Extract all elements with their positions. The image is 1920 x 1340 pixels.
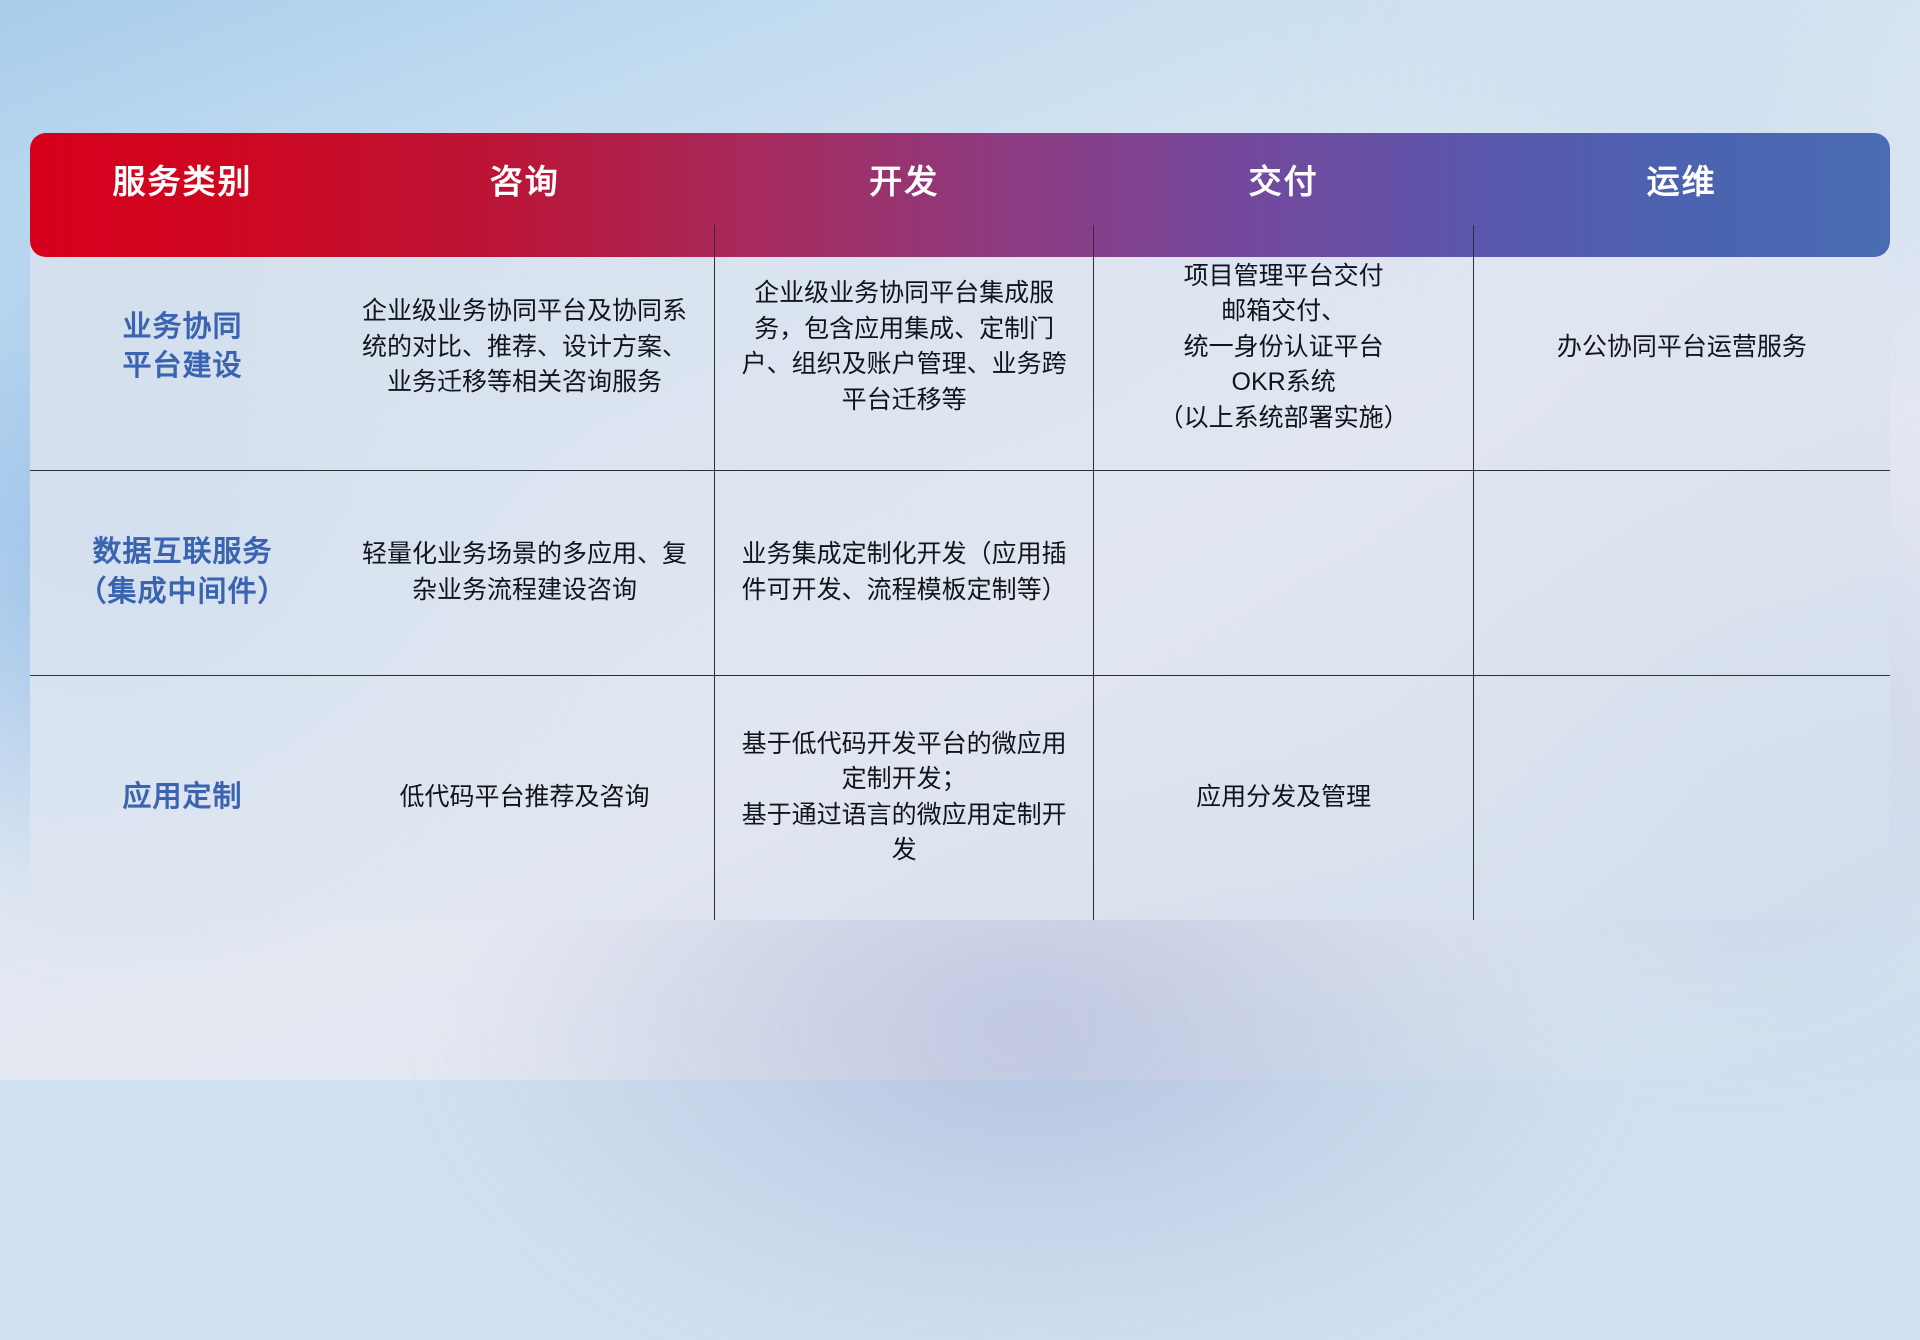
row-category-label: 业务协同平台建设 xyxy=(30,225,335,470)
table-header: 服务类别 咨询 开发 交付 运维 xyxy=(30,133,1890,225)
header-operations: 运维 xyxy=(1473,133,1890,225)
cell-operations: 办公协同平台运营服务 xyxy=(1473,225,1890,470)
header-development: 开发 xyxy=(714,133,1093,225)
cell-consulting: 低代码平台推荐及咨询 xyxy=(335,675,714,920)
table-row: 数据互联服务（集成中间件） 轻量化业务场景的多应用、复杂业务流程建设咨询 业务集… xyxy=(30,470,1890,675)
header-service-category: 服务类别 xyxy=(30,133,335,225)
cell-development: 业务集成定制化开发（应用插件可开发、流程模板定制等） xyxy=(714,470,1093,675)
table-row: 业务协同平台建设 企业级业务协同平台及协同系统的对比、推荐、设计方案、业务迁移等… xyxy=(30,225,1890,470)
table-body: 业务协同平台建设 企业级业务协同平台及协同系统的对比、推荐、设计方案、业务迁移等… xyxy=(30,225,1890,920)
header-delivery: 交付 xyxy=(1094,133,1473,225)
cell-development: 企业级业务协同平台集成服务，包含应用集成、定制门户、组织及账户管理、业务跨平台迁… xyxy=(714,225,1093,470)
row-category-label: 数据互联服务（集成中间件） xyxy=(30,470,335,675)
cell-consulting: 企业级业务协同平台及协同系统的对比、推荐、设计方案、业务迁移等相关咨询服务 xyxy=(335,225,714,470)
cell-delivery: 项目管理平台交付邮箱交付、统一身份认证平台OKR系统（以上系统部署实施） xyxy=(1094,225,1473,470)
header-row: 服务类别 咨询 开发 交付 运维 xyxy=(30,133,1890,225)
cell-delivery xyxy=(1094,470,1473,675)
table-row: 应用定制 低代码平台推荐及咨询 基于低代码开发平台的微应用定制开发；基于通过语言… xyxy=(30,675,1890,920)
header-consulting: 咨询 xyxy=(335,133,714,225)
cell-delivery: 应用分发及管理 xyxy=(1094,675,1473,920)
cell-development: 基于低代码开发平台的微应用定制开发；基于通过语言的微应用定制开发 xyxy=(714,675,1093,920)
row-category-label: 应用定制 xyxy=(30,675,335,920)
service-matrix: 服务类别 咨询 开发 交付 运维 业务协同平台建设 企业级业务协同平台及协同系统… xyxy=(30,133,1890,920)
service-matrix-table: 服务类别 咨询 开发 交付 运维 业务协同平台建设 企业级业务协同平台及协同系统… xyxy=(30,133,1890,920)
cell-operations xyxy=(1473,675,1890,920)
cell-operations xyxy=(1473,470,1890,675)
cell-consulting: 轻量化业务场景的多应用、复杂业务流程建设咨询 xyxy=(335,470,714,675)
